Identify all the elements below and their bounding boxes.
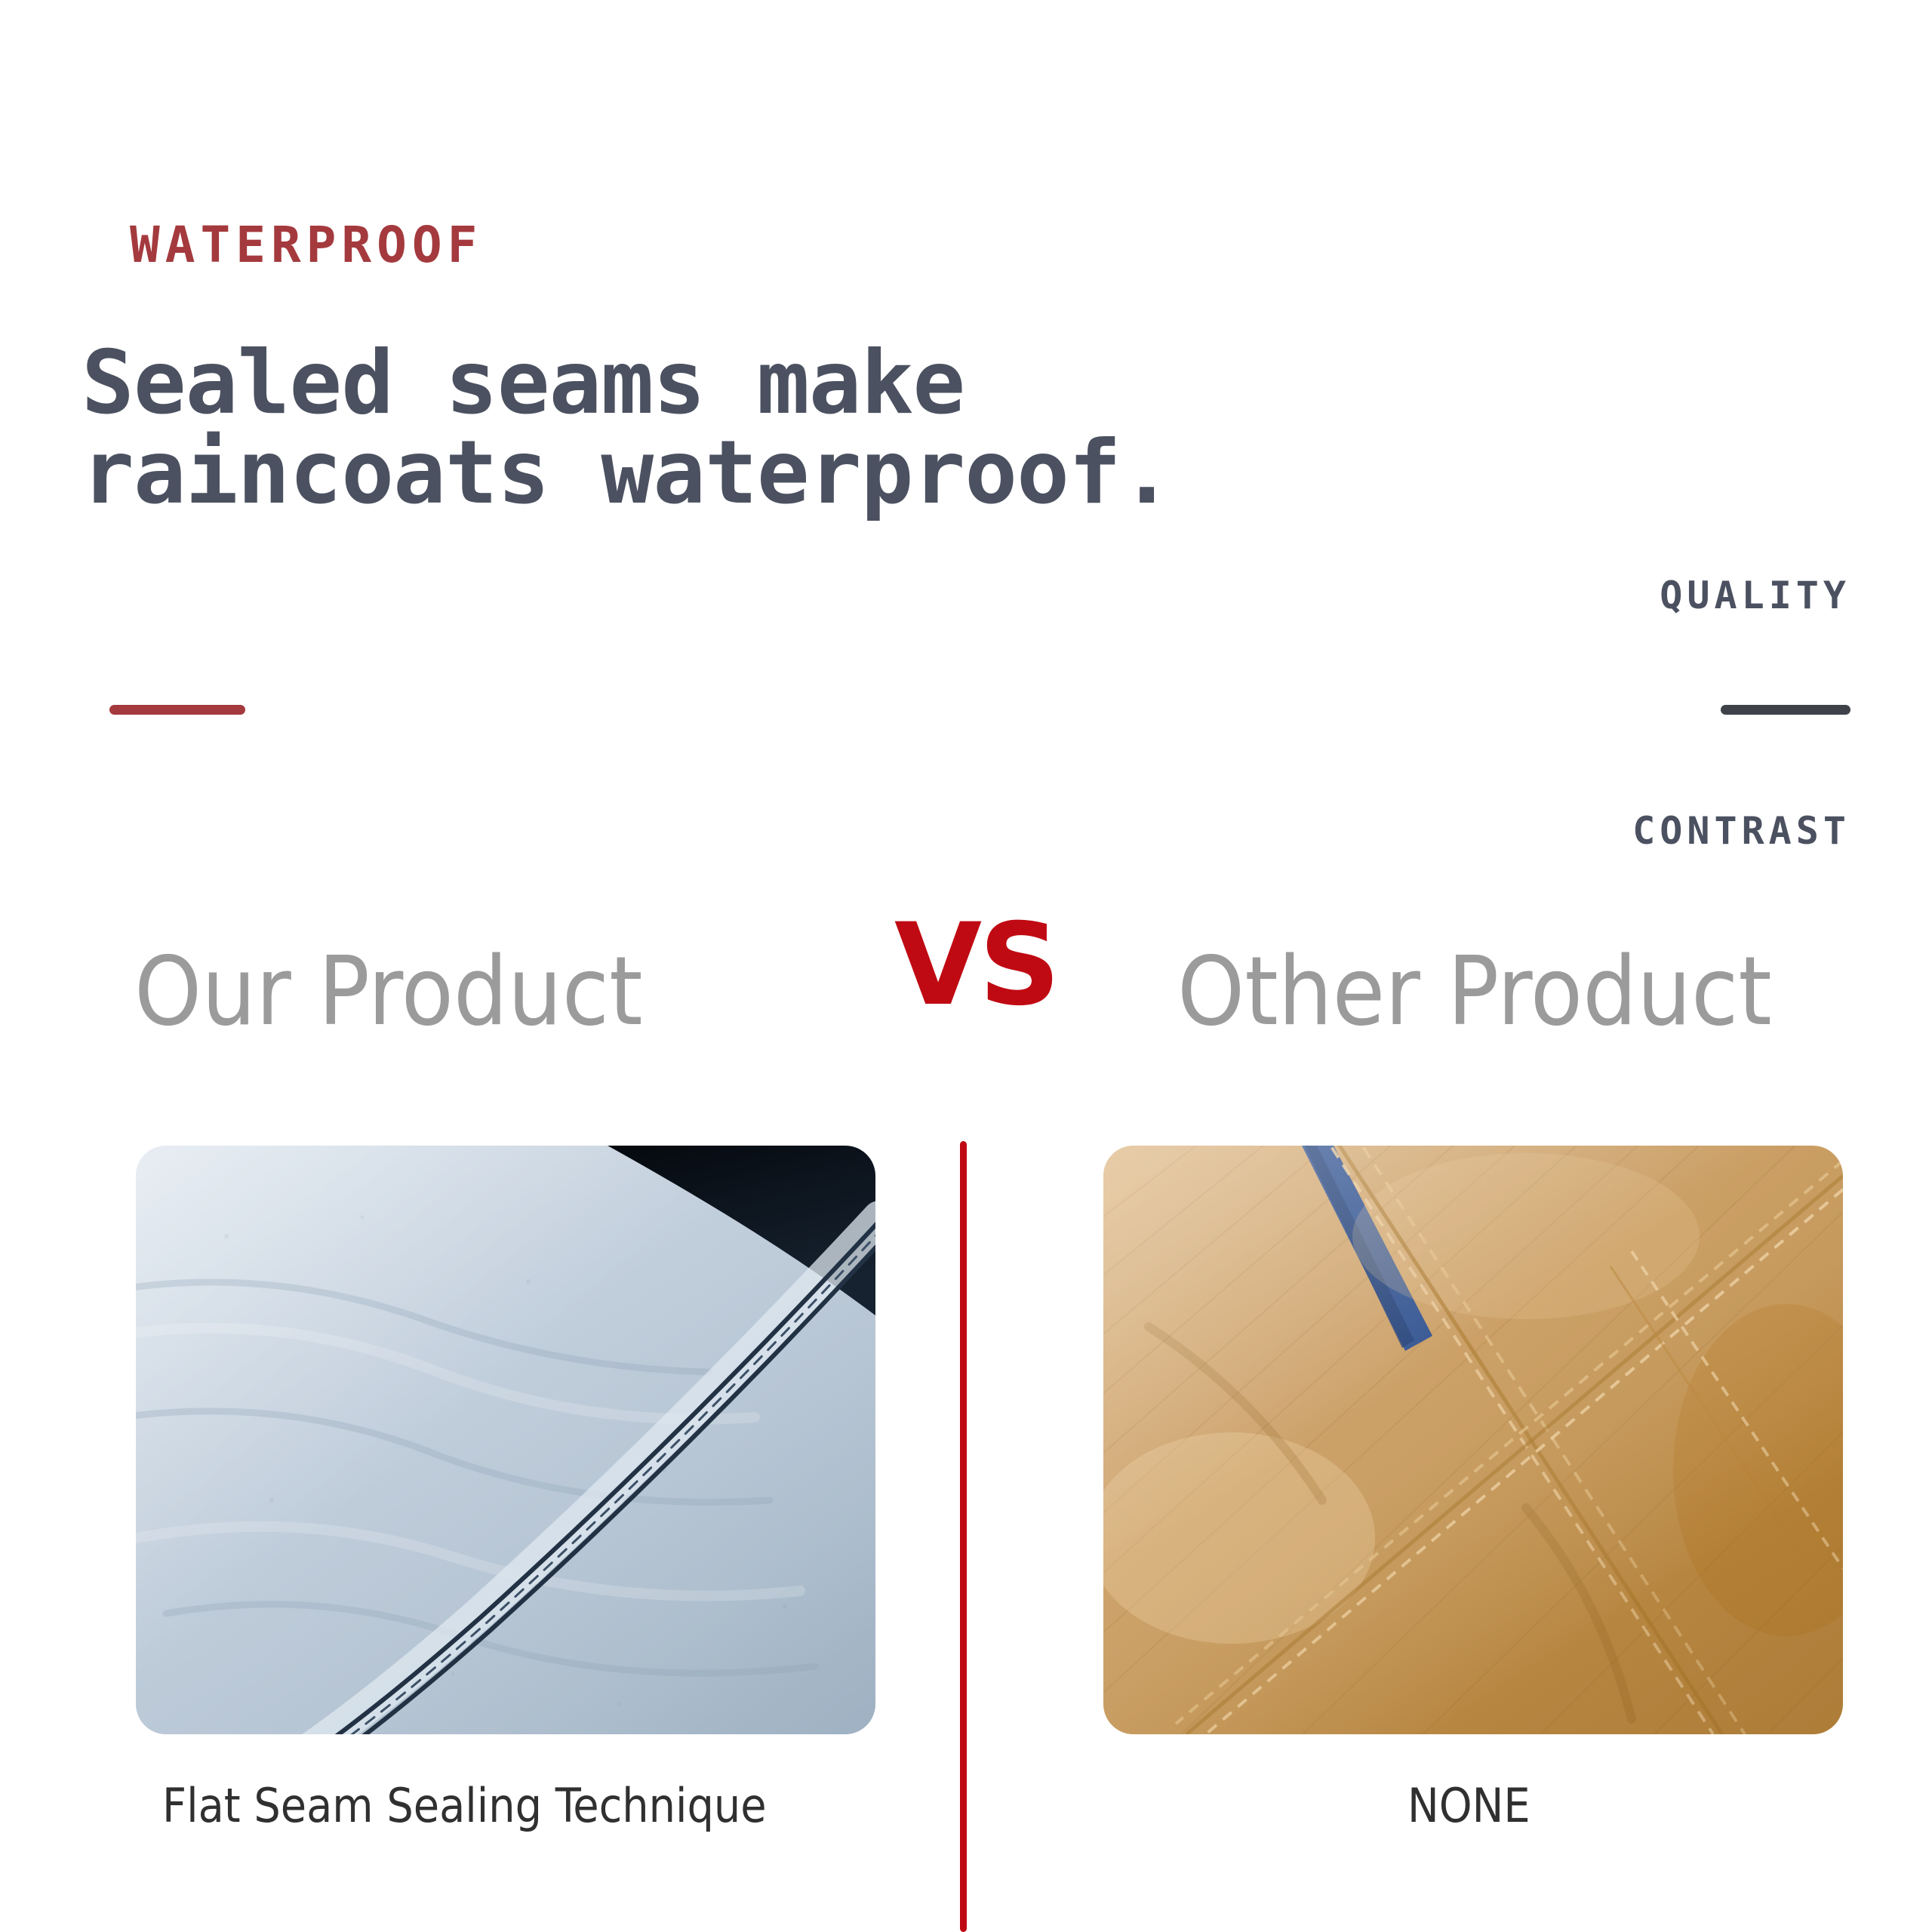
page-title: Sealed seams make raincoats waterproof. xyxy=(82,338,1173,518)
other-product-title: Other Product xyxy=(1177,936,1772,1047)
headline-line-2: raincoats waterproof. xyxy=(82,428,1173,518)
contrast-label: CONTRAST xyxy=(1632,809,1850,853)
comparison-infographic: WATERPROOF Sealed seams make raincoats w… xyxy=(0,0,1932,1932)
eyebrow-label: WATERPROOF xyxy=(130,216,482,274)
accent-rule-left xyxy=(109,705,245,715)
accent-rule-right xyxy=(1721,705,1850,715)
quality-label: QUALITY xyxy=(1660,574,1850,617)
other-product-photo xyxy=(1103,1146,1843,1734)
our-product-title: Our Product xyxy=(134,936,643,1047)
center-divider xyxy=(960,1141,967,1932)
headline-line-1: Sealed seams make xyxy=(82,332,964,434)
our-product-caption: Flat Seam Sealing Technique xyxy=(162,1778,767,1833)
other-product-caption: NONE xyxy=(1407,1778,1531,1833)
our-product-photo xyxy=(136,1146,875,1734)
vs-badge: VS xyxy=(894,900,1057,1031)
